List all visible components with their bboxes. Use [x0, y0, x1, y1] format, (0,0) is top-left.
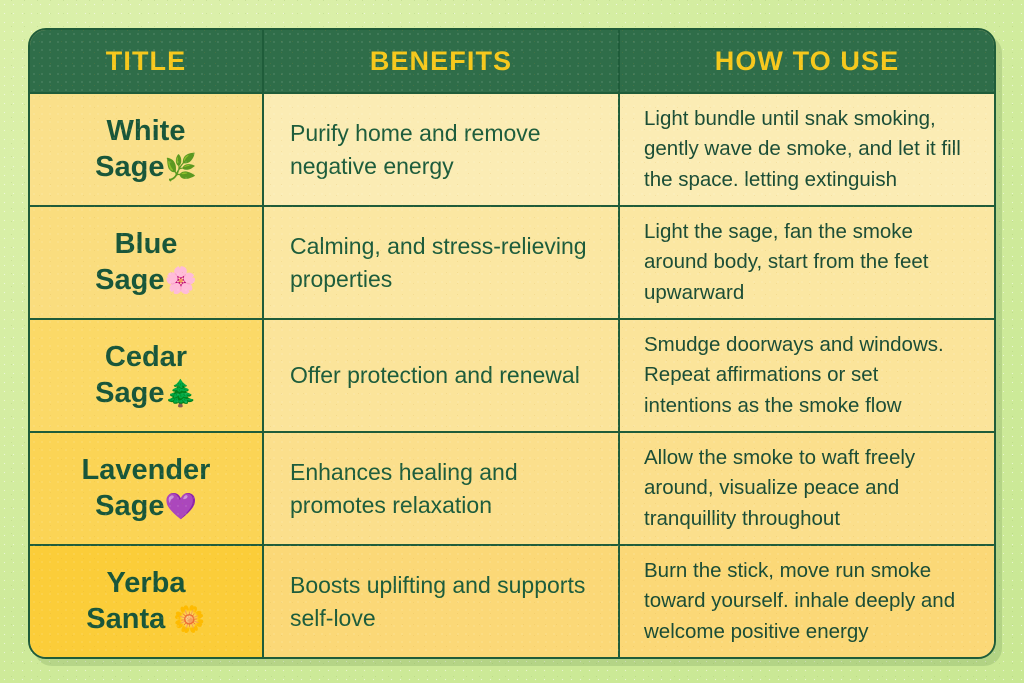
sage-types-table: TITLE BENEFITS HOW TO USE White Sage🌿 Pu… [28, 28, 996, 659]
column-header-benefits-label: BENEFITS [370, 46, 512, 77]
sage-title-line1: Cedar [105, 341, 187, 373]
benefits-text: Offer protection and renewal [290, 359, 580, 392]
how-to-use-text: Light bundle until snak smoking, gently … [644, 104, 970, 195]
table-row: Cedar Sage🌲 Offer protection and renewal… [30, 318, 994, 431]
benefits-text: Boosts uplifting and supports self-love [290, 569, 592, 634]
sage-title: White Sage🌿 [95, 114, 197, 185]
how-to-use-text: Allow the smoke to waft freely around, v… [644, 443, 970, 534]
benefits-text: Purify home and remove negative energy [290, 117, 592, 182]
sage-title-line1: Lavender [82, 454, 211, 486]
benefits-text: Enhances healing and promotes relaxation [290, 456, 592, 521]
cell-benefits: Enhances healing and promotes relaxation [262, 433, 618, 544]
sage-title-line1: Blue [115, 228, 178, 260]
sage-title-line2: Sage [95, 490, 164, 522]
cell-how-to-use: Smudge doorways and windows. Repeat affi… [618, 320, 994, 431]
cell-title: White Sage🌿 [30, 94, 262, 205]
column-header-title: TITLE [30, 30, 262, 92]
herb-leaf-emoji: 🌿 [164, 152, 196, 182]
sage-title: Lavender Sage💜 [82, 453, 211, 524]
cherry-blossom-emoji: 🌸 [164, 265, 196, 295]
evergreen-tree-emoji: 🌲 [164, 378, 196, 408]
cell-title: Lavender Sage💜 [30, 433, 262, 544]
sage-title-line1: Yerba [106, 567, 185, 599]
sage-title-line2: Sage [95, 264, 164, 296]
sage-title: Yerba Santa 🌼 [86, 566, 205, 637]
cell-title: Blue Sage🌸 [30, 207, 262, 318]
cell-title: Yerba Santa 🌼 [30, 546, 262, 657]
cell-benefits: Boosts uplifting and supports self-love [262, 546, 618, 657]
sage-title-line1: White [107, 115, 186, 147]
sage-title-line2: Sage [95, 377, 164, 409]
cell-how-to-use: Light bundle until snak smoking, gently … [618, 94, 994, 205]
cell-benefits: Offer protection and renewal [262, 320, 618, 431]
cell-benefits: Purify home and remove negative energy [262, 94, 618, 205]
sage-title: Cedar Sage🌲 [95, 340, 197, 411]
column-header-how-to-use: HOW TO USE [618, 30, 994, 92]
page-background: TITLE BENEFITS HOW TO USE White Sage🌿 Pu… [0, 0, 1024, 683]
table-row: White Sage🌿 Purify home and remove negat… [30, 92, 994, 205]
how-to-use-text: Smudge doorways and windows. Repeat affi… [644, 330, 970, 421]
table-row: Lavender Sage💜 Enhances healing and prom… [30, 431, 994, 544]
sage-title-line2: Sage [95, 151, 164, 183]
purple-heart-emoji: 💜 [164, 491, 196, 521]
table-row: Yerba Santa 🌼 Boosts uplifting and suppo… [30, 544, 994, 657]
cell-how-to-use: Allow the smoke to waft freely around, v… [618, 433, 994, 544]
column-header-how-to-use-label: HOW TO USE [715, 46, 900, 77]
how-to-use-text: Light the sage, fan the smoke around bod… [644, 217, 970, 308]
cell-how-to-use: Burn the stick, move run smoke toward yo… [618, 546, 994, 657]
sage-title: Blue Sage🌸 [95, 227, 197, 298]
table-header-row: TITLE BENEFITS HOW TO USE [30, 30, 994, 92]
table-row: Blue Sage🌸 Calming, and stress-relieving… [30, 205, 994, 318]
benefits-text: Calming, and stress-relieving properties [290, 230, 592, 295]
cell-title: Cedar Sage🌲 [30, 320, 262, 431]
column-header-title-label: TITLE [106, 46, 187, 77]
cell-how-to-use: Light the sage, fan the smoke around bod… [618, 207, 994, 318]
how-to-use-text: Burn the stick, move run smoke toward yo… [644, 556, 970, 647]
cell-benefits: Calming, and stress-relieving properties [262, 207, 618, 318]
column-header-benefits: BENEFITS [262, 30, 618, 92]
sage-title-line2: Santa [86, 603, 165, 635]
blossom-emoji: 🌼 [173, 604, 205, 634]
